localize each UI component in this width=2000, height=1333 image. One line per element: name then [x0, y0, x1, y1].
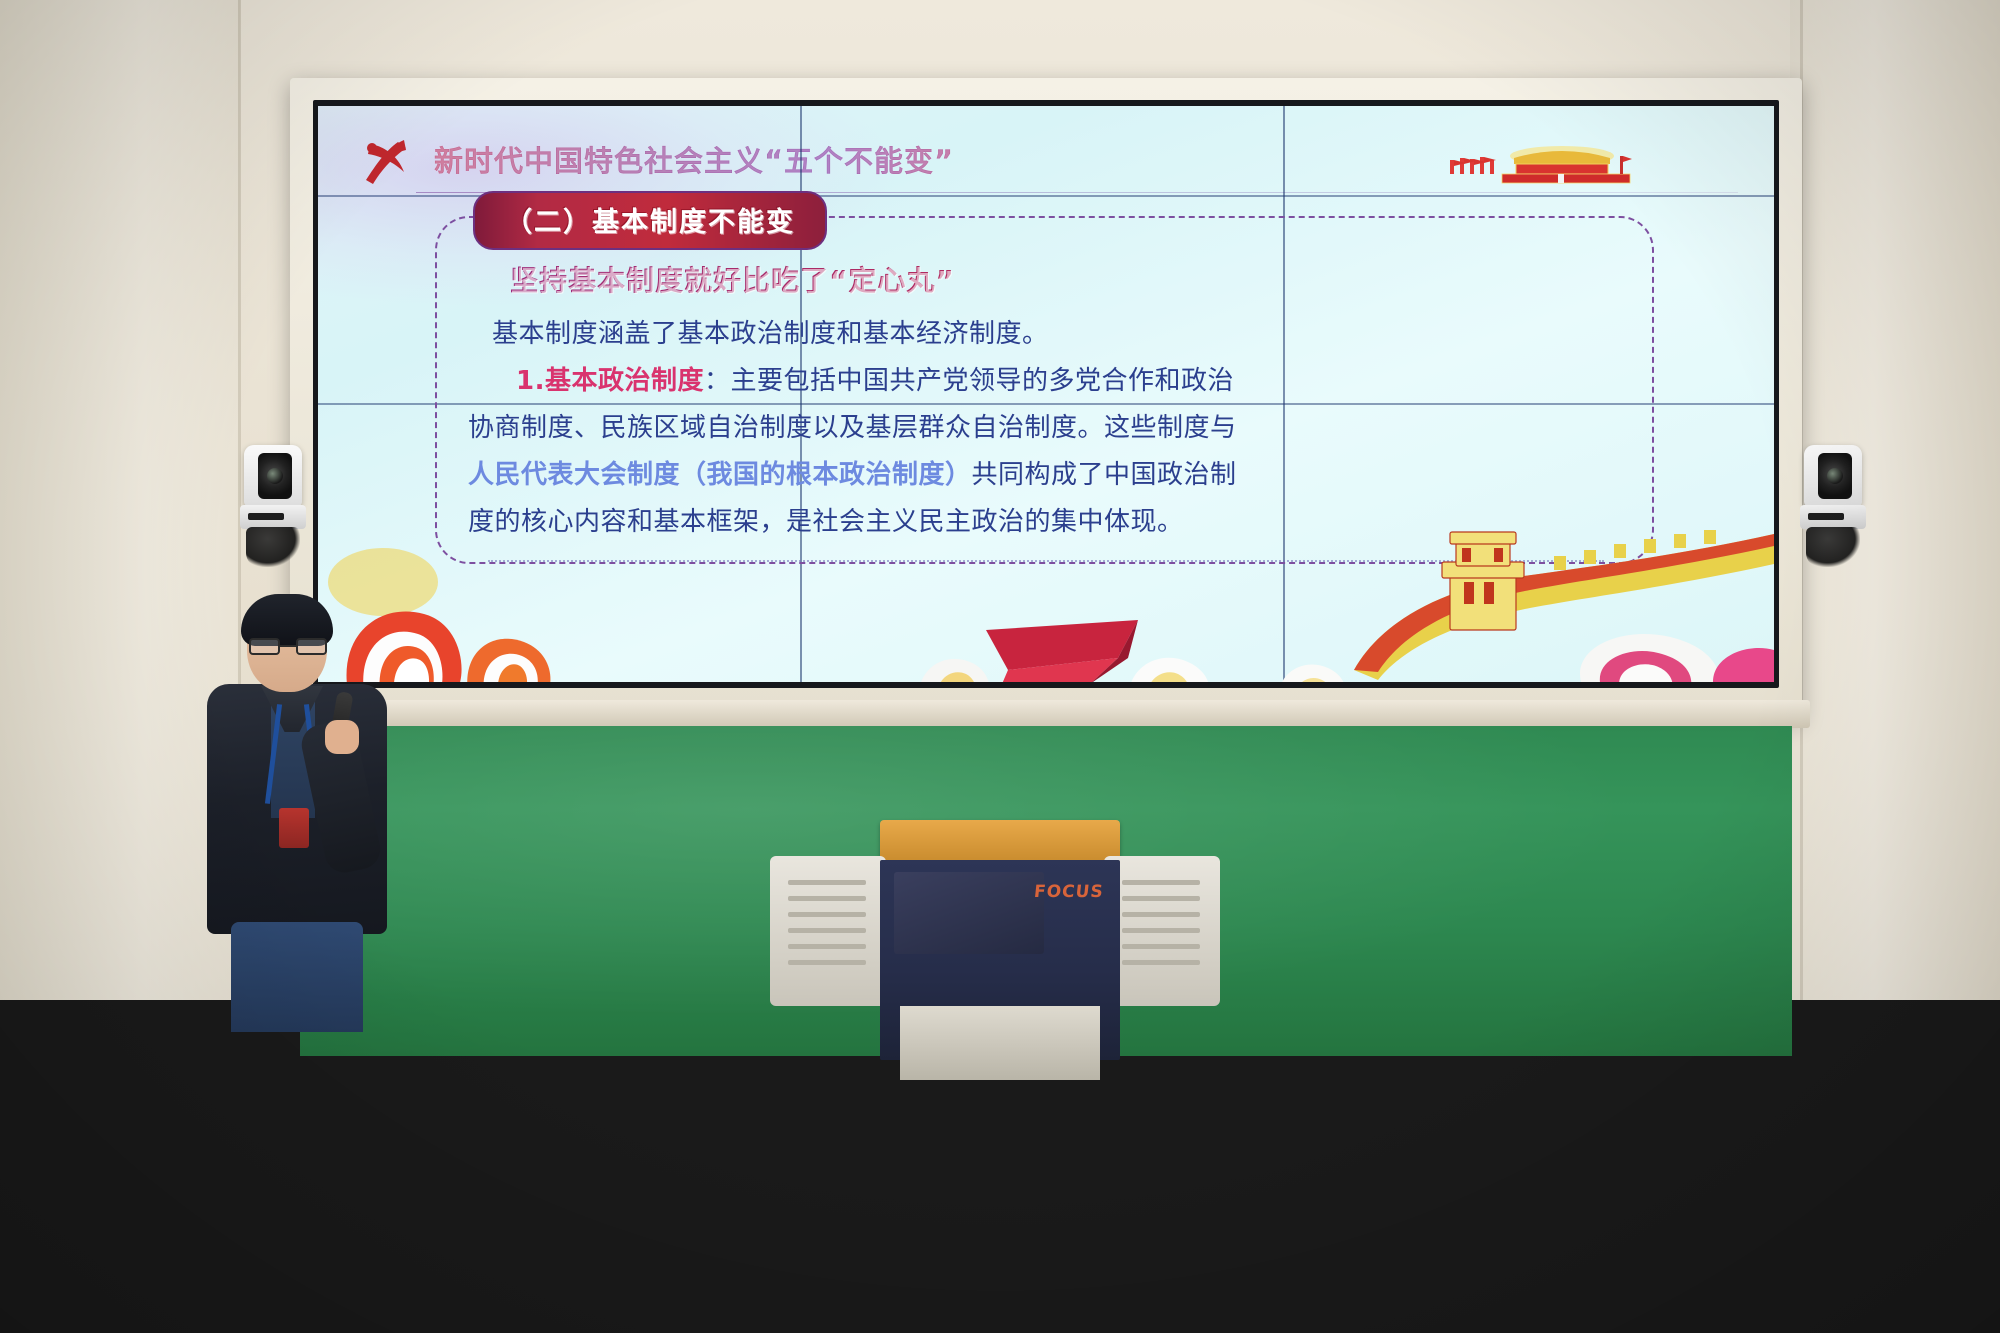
video-wall-inner-frame: 新时代中国特色社会主义“五个不能变”: [313, 100, 1779, 688]
camera-body-right: [1804, 445, 1862, 507]
party-hammer-sickle-icon: [358, 134, 420, 188]
camera-mount-left: [240, 505, 306, 529]
ptz-camera-left: [240, 445, 306, 565]
camera-cables-right: [1806, 527, 1860, 567]
slide-body-line-3: 人民代表大会制度（我国的根本政治制度）共同构成了中国政治制: [468, 452, 1684, 499]
camera-lens-left-icon: [258, 453, 292, 499]
camera-cables-left: [246, 527, 300, 567]
slide-sub-headline: 坚持基本制度就好比吃了“定心丸”: [510, 259, 955, 299]
tiananmen-gate-icon: [1442, 142, 1632, 188]
section-banner: （二）基本制度不能变: [473, 191, 827, 250]
slide-body-run-2-0: 协商制度、民族区域自治制度以及基层群众自治制度。这些制度与: [468, 413, 1237, 443]
slide-body-text: 基本制度涵盖了基本政治制度和基本经济制度。1.基本政治制度：主要包括中国共产党领…: [468, 311, 1684, 546]
slide-body-line-1: 1.基本政治制度：主要包括中国共产党领导的多党合作和政治: [468, 358, 1684, 405]
camera-lens-right-icon: [1818, 453, 1852, 499]
slide-body-line-2: 协商制度、民族区域自治制度以及基层群众自治制度。这些制度与: [468, 405, 1684, 452]
slide-body-run-4-0: 度的核心内容和基本框架，是社会主义民主政治的集中体现。: [468, 507, 1184, 537]
screenshot-root: 新时代中国特色社会主义“五个不能变”: [0, 0, 2000, 1333]
audience-area: 中共中央党校 韩 中共中央党校 李晓瞳 中共中央党校 柴 奕: [0, 713, 2000, 1333]
slide-body-run-1-1: ：主要包括中国共产党领导的多党合作和政治: [704, 366, 1234, 396]
slide-body-run-0-0: 基本制度涵盖了基本政治制度和基本经济制度。: [492, 319, 1049, 349]
slide-body-line-0: 基本制度涵盖了基本政治制度和基本经济制度。: [468, 311, 1684, 358]
cloud-swirl-center-icon: [878, 610, 1438, 682]
presentation-screen[interactable]: 新时代中国特色社会主义“五个不能变”: [318, 106, 1774, 682]
slide-body-line-4: 度的核心内容和基本框架，是社会主义民主政治的集中体现。: [468, 499, 1684, 546]
video-wall-bezel: 新时代中国特色社会主义“五个不能变”: [290, 78, 1802, 718]
slide-body-run-3-0: 人民代表大会制度（我国的根本政治制度）: [468, 460, 972, 490]
slide-body-run-1-0: 1.基本政治制度: [516, 366, 704, 396]
presenter-glasses-icon: [249, 638, 327, 655]
red-ribbon-icon: [968, 614, 1168, 682]
slide-body-run-3-1: 共同构成了中国政治制: [972, 460, 1237, 490]
slide-header: 新时代中国特色社会主义“五个不能变”: [358, 130, 1744, 192]
camera-body-left: [244, 445, 302, 507]
ptz-camera-right: [1800, 445, 1866, 565]
slide-header-title: 新时代中国特色社会主义“五个不能变”: [434, 138, 954, 180]
camera-mount-right: [1800, 505, 1866, 529]
